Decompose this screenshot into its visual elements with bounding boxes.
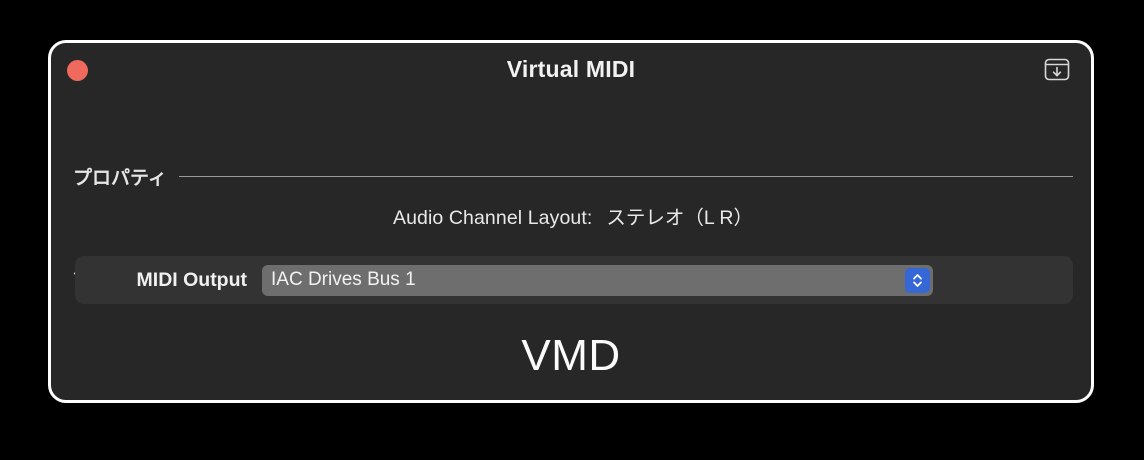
parameter-row-midi-output: MIDI Output IAC Drives Bus 1 [75,256,1073,304]
plugin-brand-name: VMD [51,331,1091,381]
property-label: Audio Channel Layout: [393,207,592,230]
property-row-audio-channel-layout: Audio Channel Layout: ステレオ（L R） [73,201,1073,230]
chevron-up-down-icon[interactable] [905,268,930,293]
section-rule [179,176,1073,177]
midi-output-popup-button[interactable]: IAC Drives Bus 1 [262,265,933,296]
window-titlebar: Virtual MIDI [51,43,1091,99]
section-label-properties: プロパティ [73,163,167,190]
property-value: ステレオ（L R） [606,201,753,230]
save-preset-icon [1043,57,1071,83]
parameter-label-midi-output: MIDI Output [75,269,262,292]
window-title: Virtual MIDI [51,56,1091,83]
midi-output-value: IAC Drives Bus 1 [262,269,416,291]
save-preset-button[interactable] [1040,55,1074,85]
plugin-window: Virtual MIDI プロパティ Audio Channel Layout:… [48,40,1094,403]
section-header-properties: プロパティ [73,163,1073,190]
